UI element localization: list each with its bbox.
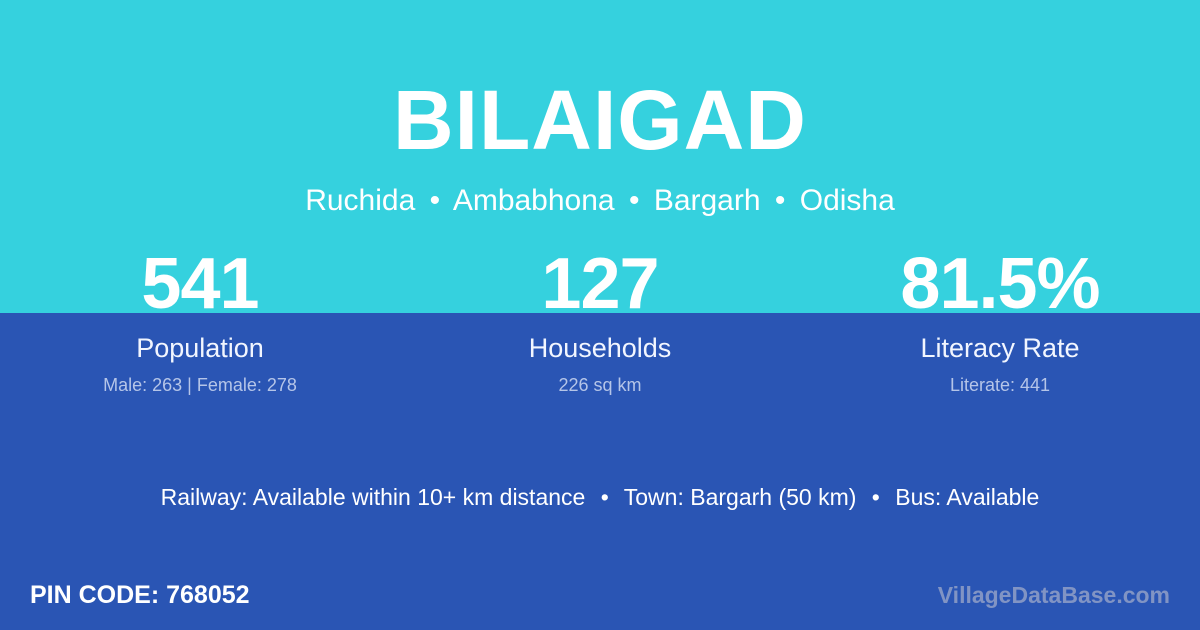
stat-households: 127 Households 226 sq km (400, 248, 800, 394)
infrastructure-town: Town: Bargarh (50 km) (624, 484, 857, 510)
stat-detail: Male: 263 | Female: 278 (0, 376, 400, 394)
breadcrumb-item-village: Ruchida (305, 184, 415, 217)
breadcrumb-separator-icon: • (424, 184, 447, 217)
stat-label: Literacy Rate (800, 335, 1200, 362)
stat-value: 541 (0, 248, 400, 320)
pin-code: PIN CODE: 768052 (30, 583, 250, 608)
breadcrumb-item-district: Bargarh (654, 184, 761, 217)
infrastructure-bus: Bus: Available (895, 484, 1039, 510)
stat-population: 541 Population Male: 263 | Female: 278 (0, 248, 400, 394)
breadcrumb-item-state: Odisha (800, 184, 895, 217)
breadcrumb: Ruchida • Ambabhona • Bargarh • Odisha (0, 186, 1200, 216)
card-footer: PIN CODE: 768052 VillageDataBase.com (0, 572, 1200, 618)
breadcrumb-separator-icon: • (769, 184, 792, 217)
infrastructure-separator-icon: • (863, 484, 889, 510)
infrastructure-separator-icon: • (592, 484, 618, 510)
stat-detail: Literate: 441 (800, 376, 1200, 394)
stat-literacy-rate: 81.5% Literacy Rate Literate: 441 (800, 248, 1200, 394)
stat-value: 81.5% (800, 248, 1200, 320)
page-title: BILAIGAD (0, 78, 1200, 162)
stats-row: 541 Population Male: 263 | Female: 278 1… (0, 248, 1200, 394)
stat-detail: 226 sq km (400, 376, 800, 394)
card-header: BILAIGAD Ruchida • Ambabhona • Bargarh •… (0, 0, 1200, 216)
infrastructure-line: Railway: Available within 10+ km distanc… (0, 486, 1200, 509)
site-brand: VillageDataBase.com (938, 584, 1170, 607)
stat-value: 127 (400, 248, 800, 320)
village-info-card: BILAIGAD Ruchida • Ambabhona • Bargarh •… (0, 0, 1200, 630)
stat-label: Households (400, 335, 800, 362)
breadcrumb-separator-icon: • (623, 184, 646, 217)
stat-label: Population (0, 335, 400, 362)
infrastructure-railway: Railway: Available within 10+ km distanc… (161, 484, 586, 510)
breadcrumb-item-block: Ambabhona (453, 184, 615, 217)
